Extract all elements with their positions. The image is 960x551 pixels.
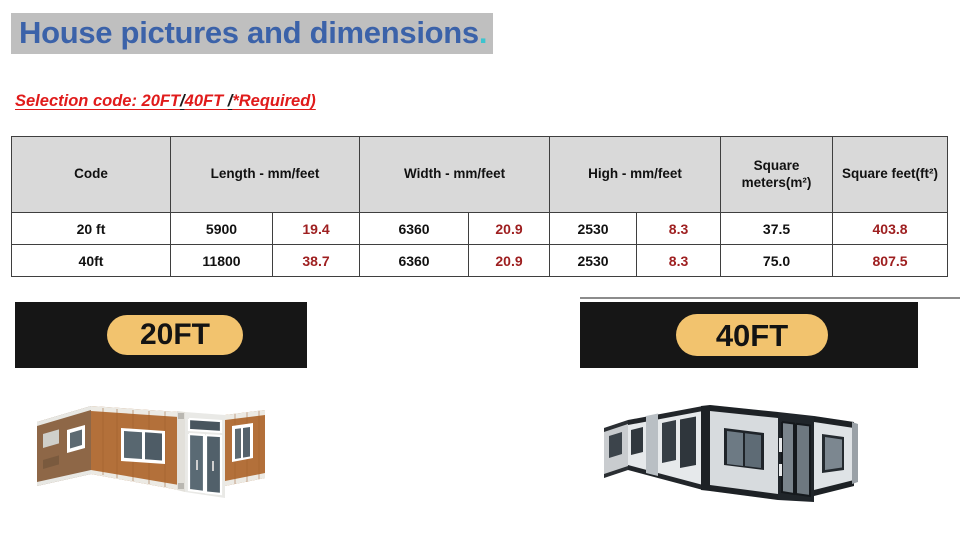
selection-required-note: *Required)	[232, 92, 315, 110]
cell-high-feet-row1: 8.3	[637, 245, 721, 277]
header-code: Code	[12, 137, 171, 213]
table-header-row: Code Length - mm/feet Width - mm/feet Hi…	[12, 137, 948, 213]
page-title-container: House pictures and dimensions.	[11, 13, 493, 54]
cell-length-feet-row0: 19.4	[273, 213, 360, 245]
header-length: Length - mm/feet	[171, 137, 360, 213]
cell-length-feet-row1: 38.7	[273, 245, 360, 277]
banner-pill-20ft: 20FT	[107, 315, 243, 355]
horizontal-divider-rule	[580, 297, 960, 299]
cell-code-row0: 20 ft	[12, 213, 171, 245]
cell-width-feet-row0: 20.9	[469, 213, 550, 245]
banner-40ft: 40FT	[580, 302, 918, 368]
header-width: Width - mm/feet	[360, 137, 550, 213]
table-row: 20 ft 5900 19.4 6360 20.9 2530 8.3 37.5 …	[12, 213, 948, 245]
header-square-feet: Square feet(ft²)	[833, 137, 948, 213]
photo-panel-40ft: 40FT	[580, 302, 918, 538]
cell-width-feet-row1: 20.9	[469, 245, 550, 277]
page-title-text: House pictures and dimensions	[19, 15, 479, 50]
header-high: High - mm/feet	[550, 137, 721, 213]
cell-square-meters-row0: 37.5	[721, 213, 833, 245]
container-house-40ft-illustration	[598, 378, 888, 518]
header-square-meters: Square meters(m²)	[721, 137, 833, 213]
cell-square-feet-row1: 807.5	[833, 245, 948, 277]
cell-square-feet-row0: 403.8	[833, 213, 948, 245]
house-image-40ft	[580, 368, 918, 538]
page-title-trailing-mark: .	[479, 15, 487, 50]
page-title: House pictures and dimensions.	[11, 13, 493, 54]
house-image-20ft	[15, 368, 307, 538]
selection-option-20ft[interactable]: 20FT	[142, 92, 181, 110]
cell-code-row1: 40ft	[12, 245, 171, 277]
dimensions-table: Code Length - mm/feet Width - mm/feet Hi…	[11, 136, 948, 277]
photo-panel-20ft: 20FT	[15, 302, 307, 538]
header-square-meters-line2: meters(m²)	[742, 175, 812, 190]
selection-code-line: Selection code: 20FT/40FT /*Required)	[15, 92, 316, 111]
cell-length-mm-row1: 11800	[171, 245, 273, 277]
selection-option-40ft[interactable]: 40FT	[185, 92, 228, 110]
cell-high-mm-row1: 2530	[550, 245, 637, 277]
container-house-20ft-illustration	[29, 382, 279, 517]
header-square-meters-line1: Square	[754, 158, 800, 173]
selection-code-prefix: Selection code:	[15, 92, 142, 110]
cell-high-mm-row0: 2530	[550, 213, 637, 245]
table-row: 40ft 11800 38.7 6360 20.9 2530 8.3 75.0 …	[12, 245, 948, 277]
banner-pill-40ft: 40FT	[676, 314, 828, 356]
banner-20ft: 20FT	[15, 302, 307, 368]
cell-width-mm-row0: 6360	[360, 213, 469, 245]
cell-width-mm-row1: 6360	[360, 245, 469, 277]
cell-high-feet-row0: 8.3	[637, 213, 721, 245]
cell-square-meters-row1: 75.0	[721, 245, 833, 277]
cell-length-mm-row0: 5900	[171, 213, 273, 245]
